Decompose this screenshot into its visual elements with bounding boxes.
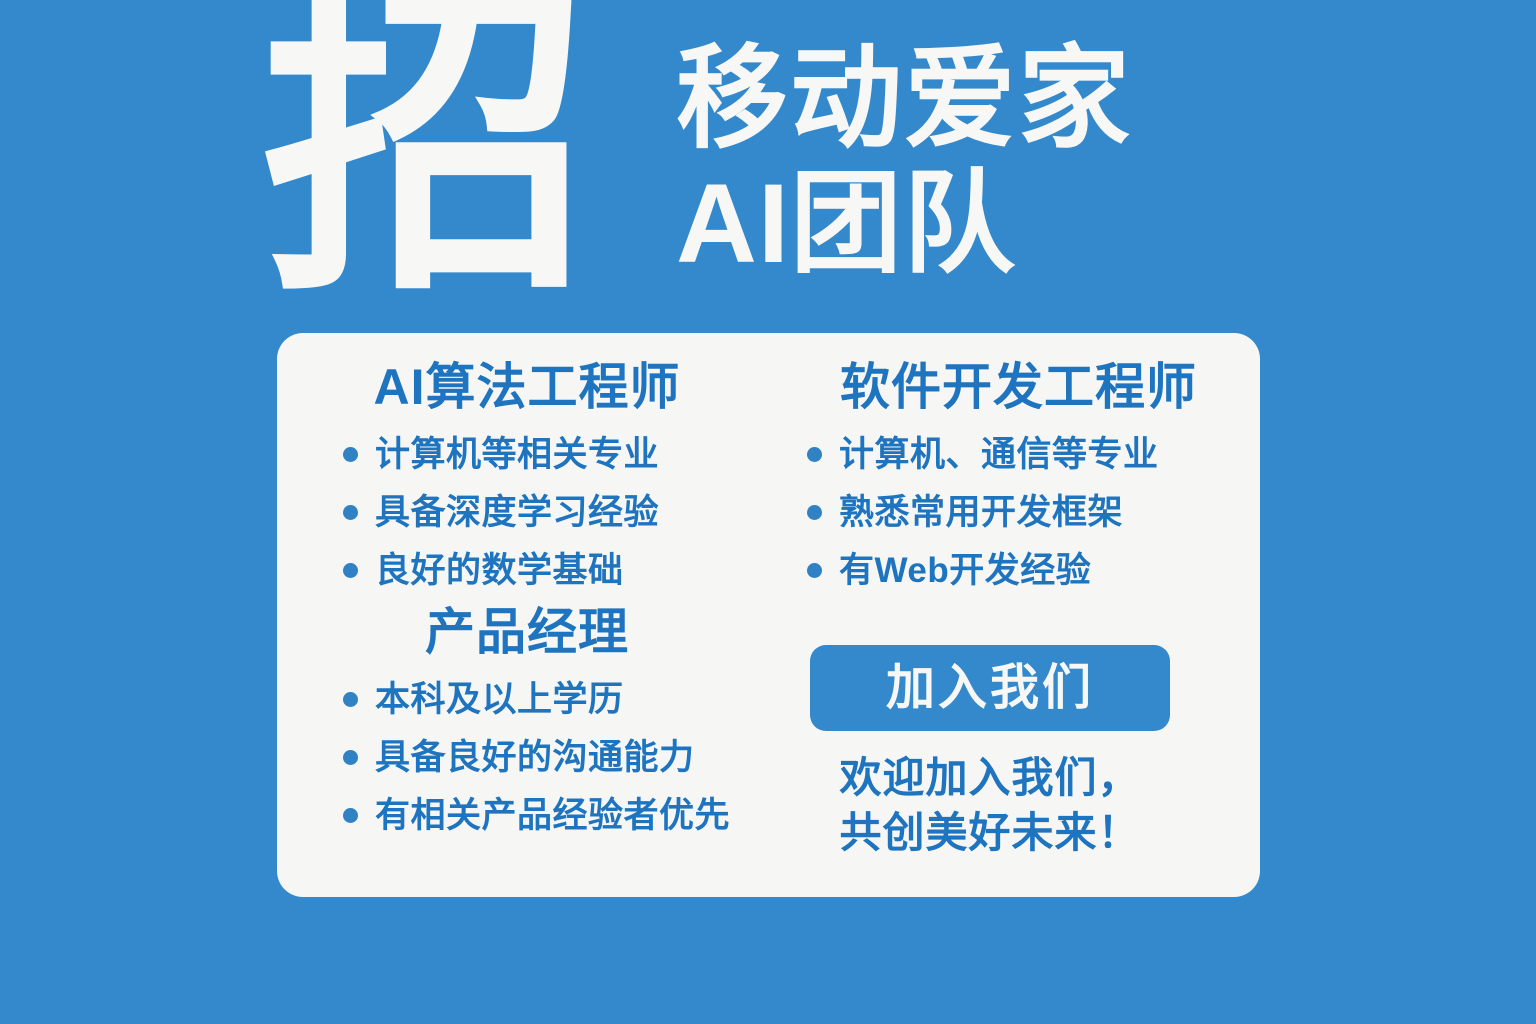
job-title-software-development-engineer: 软件开发工程师 [777,360,1260,415]
requirement-text: 有Web开发经验 [839,549,1091,593]
jobs-card: AI算法工程师 计算机等相关专业 具备深度学习经验 良好的数学基础 [277,333,1260,897]
bullet-dot-icon [807,505,822,520]
poster-header: 招 移动爱家 AI团队 [0,0,1536,320]
bullet-dot-icon [343,750,358,765]
bullet-dot-icon [807,563,822,578]
list-item: 计算机、通信等专业 [807,433,1260,477]
list-item: 熟悉常用开发框架 [807,491,1260,535]
requirement-list-product-manager: 本科及以上学历 具备良好的沟通能力 有相关产品经验者优先 [277,678,777,837]
hero-subtitle-group: 移动爱家 AI团队 [676,36,1132,287]
bullet-dot-icon [343,505,358,520]
list-item: 本科及以上学历 [343,678,777,722]
bullet-dot-icon [343,563,358,578]
requirement-text: 有相关产品经验者优先 [375,794,730,838]
list-item: 计算机等相关专业 [343,433,777,477]
join-us-button[interactable]: 加入我们 [810,645,1170,731]
requirement-text: 具备深度学习经验 [375,491,659,535]
bullet-dot-icon [343,808,358,823]
hero-subtitle-line-1: 移动爱家 [676,36,1132,161]
requirement-text: 良好的数学基础 [375,549,624,593]
list-item: 有相关产品经验者优先 [343,794,777,838]
job-title-ai-algorithm-engineer: AI算法工程师 [277,360,777,415]
requirement-text: 计算机、通信等专业 [839,433,1159,477]
closing-message: 欢迎加入我们， 共创美好未来！ [810,751,1170,860]
requirement-text: 具备良好的沟通能力 [375,736,695,780]
job-block-ai-algorithm-engineer: AI算法工程师 计算机等相关专业 具备深度学习经验 良好的数学基础 [277,360,777,606]
requirement-text: 熟悉常用开发框架 [839,491,1123,535]
bullet-dot-icon [343,692,358,707]
requirement-text: 计算机等相关专业 [375,433,659,477]
hero-headline-character: 招 [262,0,590,308]
bullet-dot-icon [343,447,358,462]
bullet-dot-icon [807,447,822,462]
list-item: 具备深度学习经验 [343,491,777,535]
job-block-software-development-engineer: 软件开发工程师 计算机、通信等专业 熟悉常用开发框架 有Web开发经验 [777,360,1260,606]
recruitment-poster: 招 移动爱家 AI团队 AI算法工程师 计算机等相关专业 具备深度学习经验 [0,0,1536,1024]
list-item: 具备良好的沟通能力 [343,736,777,780]
hero-subtitle-line-2: AI团队 [676,161,1132,286]
requirement-text: 本科及以上学历 [375,678,624,722]
list-item: 良好的数学基础 [343,549,777,593]
job-block-product-manager: 产品经理 本科及以上学历 具备良好的沟通能力 有相关产品经验者优先 [277,605,777,851]
list-item: 有Web开发经验 [807,549,1260,593]
job-title-product-manager: 产品经理 [277,605,777,660]
closing-message-line-2: 共创美好未来！ [810,806,1170,861]
closing-message-line-1: 欢迎加入我们， [810,751,1170,806]
requirement-list-ai-algorithm-engineer: 计算机等相关专业 具备深度学习经验 良好的数学基础 [277,433,777,592]
requirement-list-software-development-engineer: 计算机、通信等专业 熟悉常用开发框架 有Web开发经验 [777,433,1260,592]
